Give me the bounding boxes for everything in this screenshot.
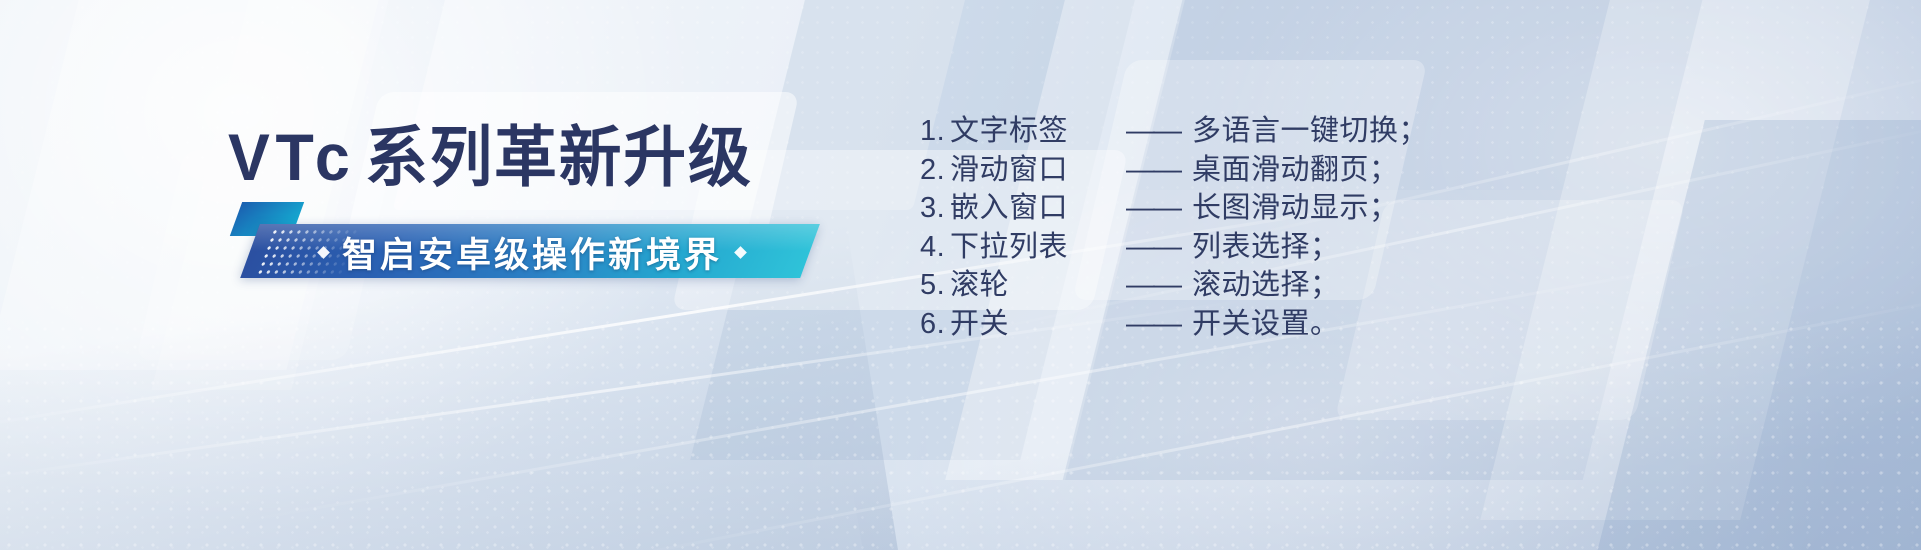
item-desc: 桌面滑动翻页； xyxy=(1192,151,1399,190)
promo-banner: VTc系列革新升级 智启安卓级操作新境界 1. 文字标签 —— 多语言一键切换；… xyxy=(0,0,1921,550)
item-dash: —— xyxy=(1126,228,1192,267)
item-number: 5. xyxy=(920,266,950,305)
subtitle-text: 智启安卓级操作新境界 xyxy=(342,227,722,278)
item-dash: —— xyxy=(1126,189,1192,228)
item-name: 文字标签 xyxy=(950,112,1126,151)
item-dash: —— xyxy=(1126,112,1192,151)
subtitle-ribbon: 智启安卓级操作新境界 xyxy=(228,218,828,280)
list-item: 2. 滑动窗口 —— 桌面滑动翻页； xyxy=(920,151,1428,190)
item-dash: —— xyxy=(1126,305,1192,344)
item-number: 3. xyxy=(920,189,950,228)
item-dash: —— xyxy=(1126,151,1192,190)
item-number: 1. xyxy=(920,112,950,151)
title-latin: VTc xyxy=(228,120,355,194)
list-item: 6. 开关 —— 开关设置。 xyxy=(920,305,1428,344)
bg-slab xyxy=(1480,0,1900,520)
list-item: 1. 文字标签 —— 多语言一键切换； xyxy=(920,112,1428,151)
bg-slab xyxy=(1575,120,1921,550)
item-desc: 开关设置。 xyxy=(1192,305,1340,344)
item-desc: 列表选择； xyxy=(1192,228,1340,267)
list-item: 4. 下拉列表 —— 列表选择； xyxy=(920,228,1428,267)
item-name: 嵌入窗口 xyxy=(950,189,1126,228)
list-item: 5. 滚轮 —— 滚动选择； xyxy=(920,266,1428,305)
item-desc: 长图滑动显示； xyxy=(1192,189,1399,228)
item-number: 6. xyxy=(920,305,950,344)
item-desc: 滚动选择； xyxy=(1192,266,1340,305)
item-number: 4. xyxy=(920,228,950,267)
halftone-dot-texture-bottom xyxy=(0,320,1921,550)
item-name: 滚轮 xyxy=(950,266,1126,305)
diamond-icon xyxy=(317,246,330,259)
item-dash: —— xyxy=(1126,266,1192,305)
page-title: VTc系列革新升级 xyxy=(228,118,836,196)
headline-block: VTc系列革新升级 智启安卓级操作新境界 xyxy=(228,118,868,280)
list-item: 3. 嵌入窗口 —— 长图滑动显示； xyxy=(920,189,1428,228)
item-name: 开关 xyxy=(950,305,1126,344)
ribbon-text-row: 智启安卓级操作新境界 xyxy=(254,227,810,277)
item-number: 2. xyxy=(920,151,950,190)
item-name: 滑动窗口 xyxy=(950,151,1126,190)
item-name: 下拉列表 xyxy=(950,228,1126,267)
feature-list: 1. 文字标签 —— 多语言一键切换； 2. 滑动窗口 —— 桌面滑动翻页； 3… xyxy=(920,112,1428,343)
title-chinese: 系列革新升级 xyxy=(365,120,753,194)
item-desc: 多语言一键切换； xyxy=(1192,112,1428,151)
diamond-icon xyxy=(734,246,747,259)
